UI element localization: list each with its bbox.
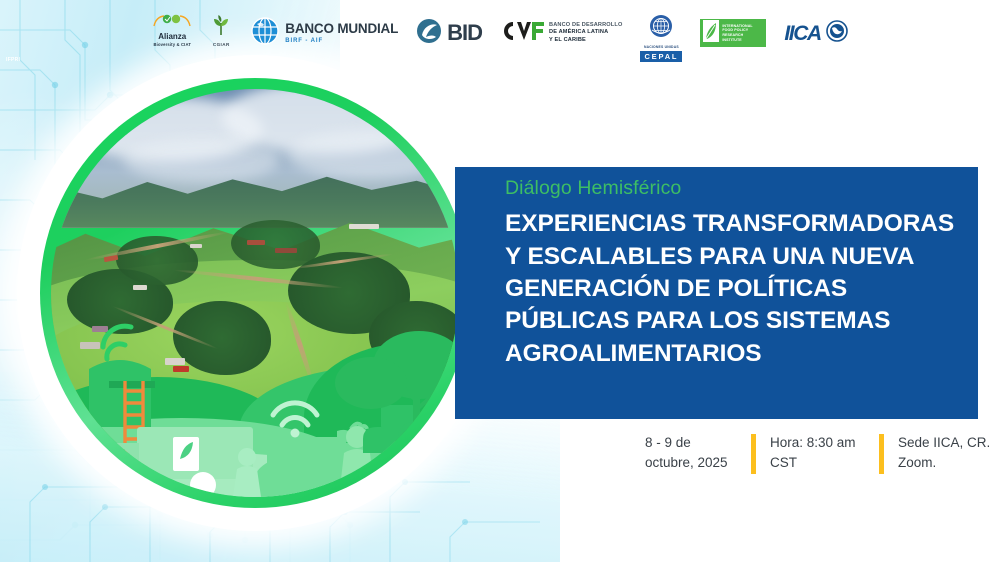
page-title: EXPERIENCIAS TRANSFORMADORAS Y ESCALABLE… [505, 208, 975, 370]
banco-mundial-subtitle: BIRF - AIF [285, 38, 398, 44]
detail-divider [879, 434, 884, 474]
logo-cgiar: CGIAR [210, 14, 232, 52]
logo-banco-mundial: BANCO MUNDIAL BIRF - AIF [250, 14, 398, 52]
tractor-icon [363, 405, 459, 485]
logo-ifpri: INTERNATIONAL FOOD POLICY RESEARCH INSTI… [700, 19, 766, 47]
event-venue: Sede IICA, CR. Zoom. [898, 433, 998, 474]
title-panel: Diálogo Hemisférico EXPERIENCIAS TRANSFO… [455, 167, 978, 419]
banco-mundial-name: BANCO MUNDIAL [285, 22, 398, 36]
logo-caf: BANCO DE DESARROLLO DE AMÉRICA LATINA Y … [500, 14, 622, 52]
ifpri-desc-line4: INSTITUTE [722, 38, 752, 43]
caf-description: BANCO DE DESARROLLO DE AMÉRICA LATINA Y … [549, 22, 622, 45]
wifi-signal-icon [273, 403, 317, 438]
logo-cepal: NACIONES UNIDAS CEPAL [640, 14, 682, 52]
un-emblem-icon [649, 14, 673, 43]
iica-name: IICA [784, 23, 820, 44]
eyebrow-label: Diálogo Hemisférico [505, 177, 975, 200]
hero-photo [51, 89, 459, 497]
caf-desc-line3: Y EL CARIBE [549, 37, 586, 43]
delivery-truck-icon [93, 427, 253, 497]
event-venue-item: Sede IICA, CR. Zoom. [898, 433, 998, 474]
event-date-item: 8 - 9 de octubre, 2025 [645, 433, 737, 474]
ifpri-leaf-icon [703, 20, 719, 47]
detail-divider [751, 434, 756, 474]
globe-icon [250, 16, 280, 51]
event-time-item: Hora: 8:30 am CST [770, 433, 865, 474]
event-time: Hora: 8:30 am CST [770, 433, 865, 474]
event-details-row: 8 - 9 de octubre, 2025 Hora: 8:30 am CST… [645, 433, 998, 474]
caf-mark-icon [500, 19, 544, 48]
illustration-overlay [51, 309, 459, 497]
sponsor-logo-bar: Alianza Bioversity & CIAT CGIAR [0, 0, 1000, 66]
cepal-subtitle: NACIONES UNIDAS [644, 45, 679, 49]
bid-name: BID [447, 22, 482, 44]
cgiar-name: CGIAR [213, 42, 230, 47]
ifpri-name: IFPRI [6, 57, 20, 63]
alianza-name: Alianza [158, 33, 186, 41]
event-poster: Alianza Bioversity & CIAT CGIAR [0, 0, 1000, 562]
event-date: 8 - 9 de octubre, 2025 [645, 433, 737, 474]
logo-bid: BID [416, 14, 482, 52]
alianza-subtitle: Bioversity & CIAT [153, 42, 191, 47]
iica-globe-icon [826, 20, 848, 47]
bid-swirl-icon [416, 18, 442, 49]
logo-iica: IICA [784, 14, 847, 52]
cepal-name: CEPAL [640, 51, 682, 62]
seed-bag-icon [173, 437, 199, 471]
alianza-leaf-icon [152, 14, 192, 32]
logo-alianza: Alianza Bioversity & CIAT [152, 14, 192, 52]
cgiar-plant-icon [210, 14, 232, 41]
caf-desc-line2: DE AMÉRICA LATINA [549, 29, 608, 35]
caf-desc-line1: BANCO DE DESARROLLO [549, 22, 622, 28]
